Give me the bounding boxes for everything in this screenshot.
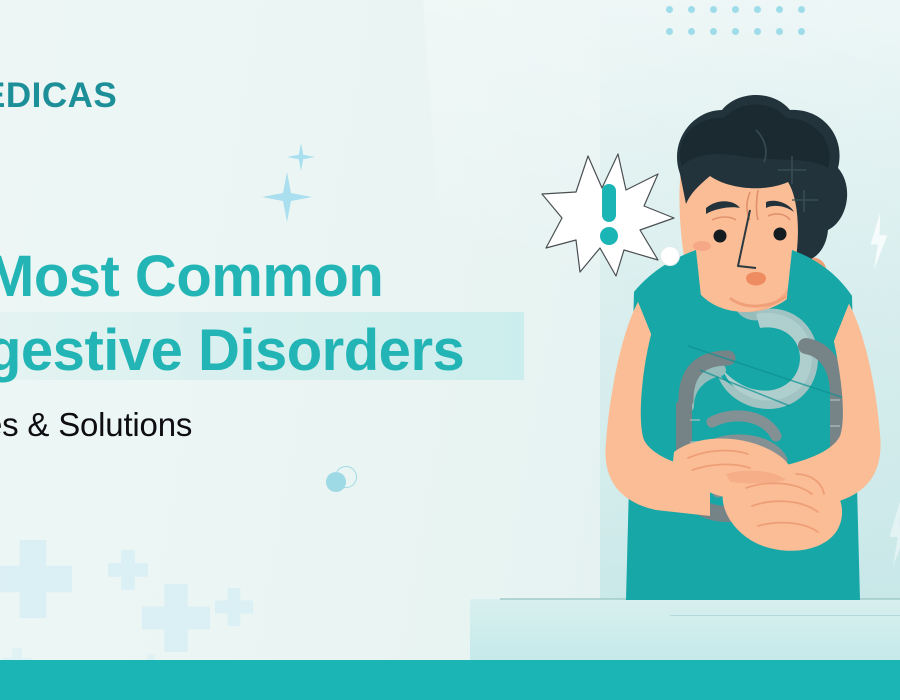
circle-outline-icon bbox=[335, 466, 357, 488]
dot-icon bbox=[754, 28, 761, 35]
dot-icon bbox=[754, 6, 761, 13]
banner-canvas: EDICAS Most Common gestive Disorders es … bbox=[0, 0, 900, 700]
brand-logo: EDICAS bbox=[0, 76, 117, 116]
dot-icon bbox=[710, 28, 717, 35]
headline-line-2: gestive Disorders bbox=[0, 314, 464, 388]
small-circle-icon bbox=[660, 246, 680, 266]
dot-icon bbox=[798, 6, 805, 13]
dot-icon bbox=[710, 6, 717, 13]
dot-icon bbox=[666, 28, 673, 35]
dot-icon bbox=[798, 28, 805, 35]
dot-icon bbox=[732, 6, 739, 13]
dot-icon bbox=[688, 6, 695, 13]
dot-grid-decoration bbox=[666, 6, 820, 50]
dot-icon bbox=[688, 28, 695, 35]
headline-block: Most Common gestive Disorders bbox=[0, 240, 606, 388]
bottom-accent-bar bbox=[0, 660, 900, 700]
dot-icon bbox=[776, 28, 783, 35]
exclamation-burst-icon bbox=[540, 148, 680, 278]
floor-line-secondary bbox=[670, 615, 900, 616]
dot-icon bbox=[776, 6, 783, 13]
dot-icon bbox=[732, 28, 739, 35]
subtitle: es & Solutions bbox=[0, 406, 192, 444]
dot-icon bbox=[666, 6, 673, 13]
headline-line-1: Most Common bbox=[0, 240, 606, 314]
